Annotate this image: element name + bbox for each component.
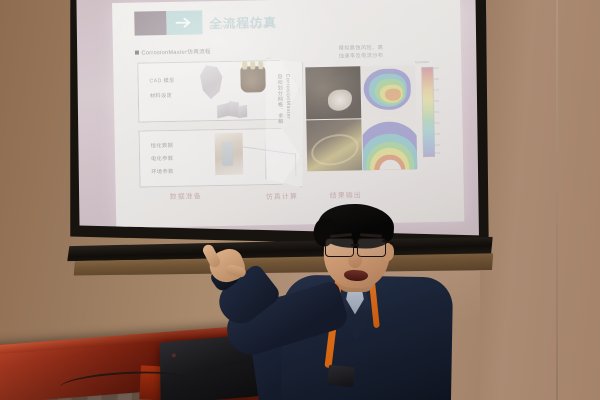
slide-title: 全流程仿真	[209, 9, 277, 34]
box-b-line-1: 恒化数据	[151, 142, 173, 149]
environment-photo-thumbnail	[215, 133, 244, 176]
legend-title: Corrosion	[415, 60, 429, 64]
box-b-line-3: 环境参数	[151, 168, 173, 175]
legend-tick: 1.00	[433, 67, 438, 70]
name-badge	[327, 365, 355, 388]
presenter	[232, 214, 462, 400]
result-photo-bottom-left	[306, 119, 361, 172]
stage-label-results: 结果输出	[330, 190, 362, 201]
box-b-line-2: 电化参数	[151, 155, 173, 162]
box-a-line-2: 材料设定	[150, 92, 172, 99]
result-contour-top-right	[361, 65, 416, 118]
slide-content: 全流程仿真 Full Process Simulation CorrosionM…	[112, 0, 464, 228]
legend-tick: 0.28	[435, 133, 440, 136]
room-wall-right	[480, 0, 600, 400]
legend-tick: 0.88	[434, 78, 439, 81]
assembly-model-thumbnail	[240, 66, 265, 92]
eyeglass-bridge	[351, 244, 359, 246]
presentation-photo: 全流程仿真 Full Process Simulation CorrosionM…	[0, 0, 600, 400]
arrow-right-icon	[166, 10, 202, 35]
legend-tick: 0.40	[434, 122, 439, 125]
result-image-grid	[305, 65, 417, 171]
legend-tick: 0.16	[435, 144, 440, 147]
box-a-line-1: CAD 模型	[149, 77, 174, 84]
wall-seam	[556, 0, 558, 400]
legend-tick-labels: 1.00 0.88 0.76 0.64 0.52 0.40 0.28 0.16 …	[433, 67, 449, 155]
annotation-line-2: 蚀速率及电流分布	[309, 51, 413, 61]
result-contour-bottom-right	[362, 118, 417, 171]
laptop-logo-icon	[172, 353, 176, 357]
header-square-block	[134, 11, 166, 36]
chevron-label: CorrosionMaster 自动划分网格、求解	[275, 74, 293, 170]
stage-label-simulation: 仿真计算	[266, 192, 298, 203]
legend-tick: 0.64	[434, 100, 439, 103]
legend-tick: 0.04	[435, 152, 440, 155]
legend-tick: 0.52	[434, 111, 439, 114]
result-photo-top-left	[305, 66, 360, 119]
result-annotation: 模拟腐蚀风险、腐 蚀速率及电流分布	[309, 43, 413, 61]
bullet-text: CorrosionMaster仿真流程	[141, 47, 211, 56]
presenter-nose	[348, 252, 362, 268]
stage-label-data-prep: 数据准备	[170, 191, 202, 202]
bullet-marker-icon	[135, 51, 139, 55]
legend-tick: 0.76	[434, 89, 439, 92]
slide-header: 全流程仿真	[134, 9, 277, 36]
material-blocks-thumbnail	[217, 100, 247, 119]
slide-bullet: CorrosionMaster仿真流程	[135, 47, 211, 56]
